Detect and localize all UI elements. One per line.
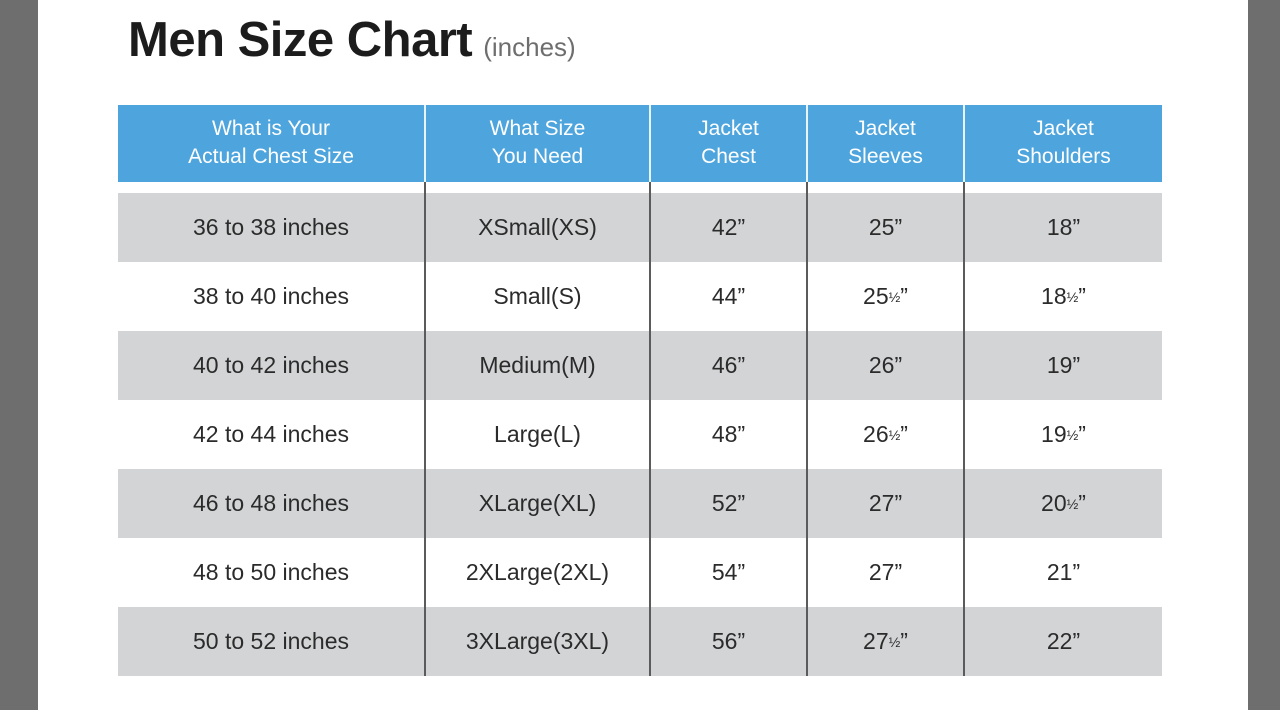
table-row: 36 to 38 inchesXSmall(XS)42”25”18” [118,193,1162,262]
column-header-line2: Shoulders [969,143,1158,171]
column-header-line2: You Need [430,143,645,171]
cell-jacket-chest: 52” [650,469,807,538]
cell-actual-chest: 42 to 44 inches [118,400,425,469]
half-fraction-glyph: ½ [1067,496,1079,512]
cell-jacket-chest: 56” [650,607,807,676]
half-fraction-glyph: ½ [889,289,901,305]
half-fraction-glyph: ½ [1067,427,1079,443]
cell-jacket-chest: 54” [650,538,807,607]
column-header-jacket-sleeves: JacketSleeves [807,105,964,182]
men-size-chart-table: What is YourActual Chest SizeWhat SizeYo… [118,105,1162,676]
cell-jacket-sleeves: 26” [807,331,964,400]
table-header-gap-cell [118,182,425,193]
cell-jacket-shoulders: 18½” [964,262,1162,331]
cell-size-needed: Small(S) [425,262,650,331]
column-header-jacket-chest: JacketChest [650,105,807,182]
cell-jacket-sleeves: 27” [807,538,964,607]
table-row: 38 to 40 inchesSmall(S)44”25½”18½” [118,262,1162,331]
column-header-line1: Jacket [969,115,1158,143]
cell-jacket-chest: 48” [650,400,807,469]
table-header-gap [118,182,1162,193]
cell-actual-chest: 40 to 42 inches [118,331,425,400]
table-body: 36 to 38 inchesXSmall(XS)42”25”18”38 to … [118,182,1162,676]
cell-jacket-chest: 46” [650,331,807,400]
cell-jacket-chest: 44” [650,262,807,331]
column-header-jacket-shoulders: JacketShoulders [964,105,1162,182]
cell-jacket-chest: 42” [650,193,807,262]
cell-jacket-shoulders: 22” [964,607,1162,676]
right-letterbox-band [1248,0,1280,710]
column-header-size-needed: What SizeYou Need [425,105,650,182]
table-row: 40 to 42 inchesMedium(M)46”26”19” [118,331,1162,400]
cell-jacket-shoulders: 19” [964,331,1162,400]
cell-jacket-shoulders: 20½” [964,469,1162,538]
column-header-line2: Chest [655,143,802,171]
cell-size-needed: 3XLarge(3XL) [425,607,650,676]
page-title-unit-note: (inches) [483,34,575,60]
cell-actual-chest: 46 to 48 inches [118,469,425,538]
left-letterbox-band [0,0,38,710]
cell-size-needed: 2XLarge(2XL) [425,538,650,607]
cell-size-needed: XSmall(XS) [425,193,650,262]
cell-jacket-shoulders: 19½” [964,400,1162,469]
table-row: 50 to 52 inches3XLarge(3XL)56”27½”22” [118,607,1162,676]
table-row: 42 to 44 inchesLarge(L)48”26½”19½” [118,400,1162,469]
cell-actual-chest: 48 to 50 inches [118,538,425,607]
table-header-gap-cell [964,182,1162,193]
cell-jacket-sleeves: 25” [807,193,964,262]
column-header-line1: Jacket [812,115,959,143]
table-header-row: What is YourActual Chest SizeWhat SizeYo… [118,105,1162,182]
cell-size-needed: Large(L) [425,400,650,469]
cell-size-needed: Medium(M) [425,331,650,400]
table-header: What is YourActual Chest SizeWhat SizeYo… [118,105,1162,182]
table-row: 48 to 50 inches2XLarge(2XL)54”27”21” [118,538,1162,607]
cell-jacket-shoulders: 18” [964,193,1162,262]
cell-jacket-sleeves: 27½” [807,607,964,676]
size-chart-canvas: Men Size Chart (inches) What is YourActu… [38,0,1248,710]
column-header-line1: What is Your [122,115,420,143]
table-header-gap-cell [425,182,650,193]
cell-actual-chest: 38 to 40 inches [118,262,425,331]
page-title: Men Size Chart (inches) [128,16,576,65]
cell-jacket-shoulders: 21” [964,538,1162,607]
cell-jacket-sleeves: 26½” [807,400,964,469]
half-fraction-glyph: ½ [1067,289,1079,305]
half-fraction-glyph: ½ [889,427,901,443]
column-header-line1: What Size [430,115,645,143]
page-title-main: Men Size Chart [128,16,472,65]
cell-jacket-sleeves: 25½” [807,262,964,331]
cell-actual-chest: 36 to 38 inches [118,193,425,262]
cell-actual-chest: 50 to 52 inches [118,607,425,676]
column-header-line2: Actual Chest Size [122,143,420,171]
cell-size-needed: XLarge(XL) [425,469,650,538]
column-header-line2: Sleeves [812,143,959,171]
column-header-line1: Jacket [655,115,802,143]
half-fraction-glyph: ½ [889,634,901,650]
column-header-actual-chest: What is YourActual Chest Size [118,105,425,182]
table-header-gap-cell [807,182,964,193]
cell-jacket-sleeves: 27” [807,469,964,538]
table-header-gap-cell [650,182,807,193]
table-row: 46 to 48 inchesXLarge(XL)52”27”20½” [118,469,1162,538]
